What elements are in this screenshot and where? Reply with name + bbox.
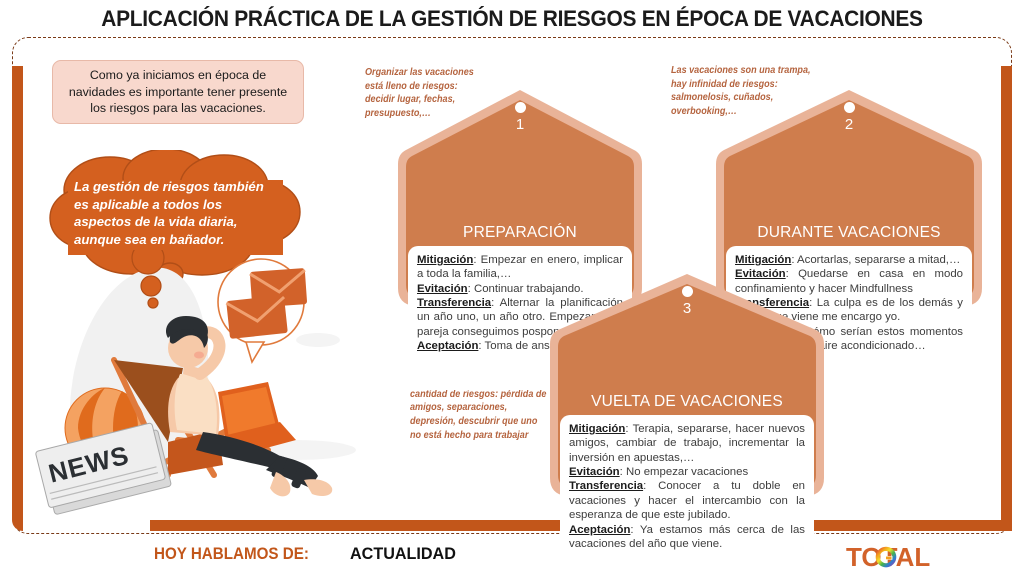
- footer-topic: ACTUALIDAD: [350, 544, 456, 564]
- page-title: APLICACIÓN PRÁCTICA DE LA GESTIÓN DE RIE…: [36, 6, 988, 32]
- intro-callout: Como ya iniciamos en época de navidades …: [52, 60, 304, 124]
- stage-marker-dot-1: [515, 102, 526, 113]
- stage-marker-dot-2: [844, 102, 855, 113]
- risk-item: Mitigación: Acortarlas, separarse a mita…: [735, 254, 960, 266]
- stage-card-vuelta-de-vacaciones[interactable]: 3 VUELTA DE VACACIONES Mitigación: Terap…: [548, 272, 826, 504]
- stage-title-1: PREPARACIÓN: [396, 224, 644, 242]
- frame-accent-bar-right: [1001, 66, 1012, 531]
- risk-item: Transferencia: Conocer a tu doble en vac…: [569, 480, 805, 521]
- vacation-illustration: NEWS: [18, 250, 363, 525]
- rainbow-o-icon: [875, 546, 897, 568]
- stage-number-3: 3: [548, 300, 826, 317]
- total-risk-logo[interactable]: TOTAL RISK: [846, 542, 1012, 572]
- stage-title-3: VUELTA DE VACACIONES: [548, 393, 826, 411]
- stage-number-2: 2: [714, 116, 984, 133]
- stage-number-1: 1: [396, 116, 644, 133]
- infographic-canvas: APLICACIÓN PRÁCTICA DE LA GESTIÓN DE RIE…: [0, 0, 1024, 576]
- stage-body-3: Mitigación: Terapia, separarse, hacer nu…: [560, 415, 814, 569]
- stage-title-2: DURANTE VACACIONES: [714, 224, 984, 242]
- intro-callout-text: Como ya iniciamos en época de navidades …: [63, 67, 293, 116]
- risk-item: Aceptación: Ya estamos más cerca de las …: [569, 524, 805, 550]
- footer-label: HOY HABLAMOS DE:: [154, 545, 309, 564]
- risk-item: Mitigación: Terapia, separarse, hacer nu…: [569, 423, 805, 464]
- thought-cloud-text: La gestión de riesgos también es aplicab…: [74, 178, 282, 248]
- stage-marker-dot-3: [682, 286, 693, 297]
- risk-item: Evitación: No empezar vacaciones: [569, 466, 748, 478]
